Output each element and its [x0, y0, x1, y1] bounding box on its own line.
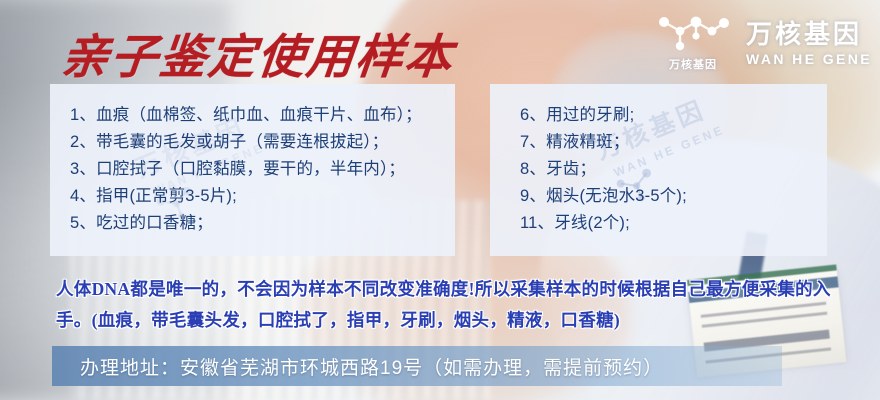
dna-molecule-icon	[654, 14, 732, 54]
list-item: 5、吃过的口香糖；	[70, 210, 455, 237]
address-bar: 办理地址：安徽省芜湖市环城西路19号（如需办理，需提前预约）	[52, 346, 782, 386]
brand-logo: 万核基因 万核基因 WAN HE GENE	[654, 14, 872, 72]
list-item: 9、烟头(无泡水3-5个);	[520, 183, 827, 210]
page-title: 亲子鉴定使用样本	[58, 18, 457, 87]
brand-wordmark: 万核基因 WAN HE GENE	[746, 21, 872, 66]
sample-panel-right: 万核基因 WAN HE GENE 6、用过的牙刷; 7、精液精斑； 8、牙齿； …	[490, 84, 827, 256]
brand-wordmark-en: WAN HE GENE	[746, 52, 872, 66]
sample-list-left: 1、血痕（血棉签、纸巾血、血痕干片、血布）； 2、带毛囊的毛发或胡子（需要连根拔…	[50, 84, 455, 237]
list-item: 7、精液精斑；	[520, 129, 827, 156]
list-item: 11、牙线(2个);	[520, 210, 827, 237]
list-item: 1、血痕（血棉签、纸巾血、血痕干片、血布）；	[70, 102, 455, 129]
poster-canvas: 亲子鉴定使用样本	[0, 0, 880, 400]
brand-wordmark-cn: 万核基因	[746, 21, 872, 47]
list-item: 2、带毛囊的毛发或胡子（需要连根拔起）；	[70, 129, 455, 156]
list-item: 3、口腔拭子（口腔黏膜，要干的，半年内）；	[70, 156, 455, 183]
list-item: 4、指甲(正常剪3-5片);	[70, 183, 455, 210]
list-item: 8、牙齿；	[520, 156, 827, 183]
brand-mark: 万核基因	[654, 14, 732, 72]
address-text: 办理地址：安徽省芜湖市环城西路19号（如需办理，需提前预约）	[80, 353, 663, 380]
sample-list-right: 6、用过的牙刷; 7、精液精斑； 8、牙齿； 9、烟头(无泡水3-5个); 11…	[490, 84, 827, 237]
brand-mark-label: 万核基因	[669, 56, 717, 72]
sample-panel-left: 万核基因 WAN HE GENE 1、血痕（血棉签、纸巾血、血痕干片、血布）； …	[50, 84, 455, 256]
list-item: 6、用过的牙刷;	[520, 102, 827, 129]
note-paragraph: 人体DNA都是唯一的，不会因为样本不同改变准确度!所以采集样本的时候根据自己最方…	[56, 274, 846, 336]
